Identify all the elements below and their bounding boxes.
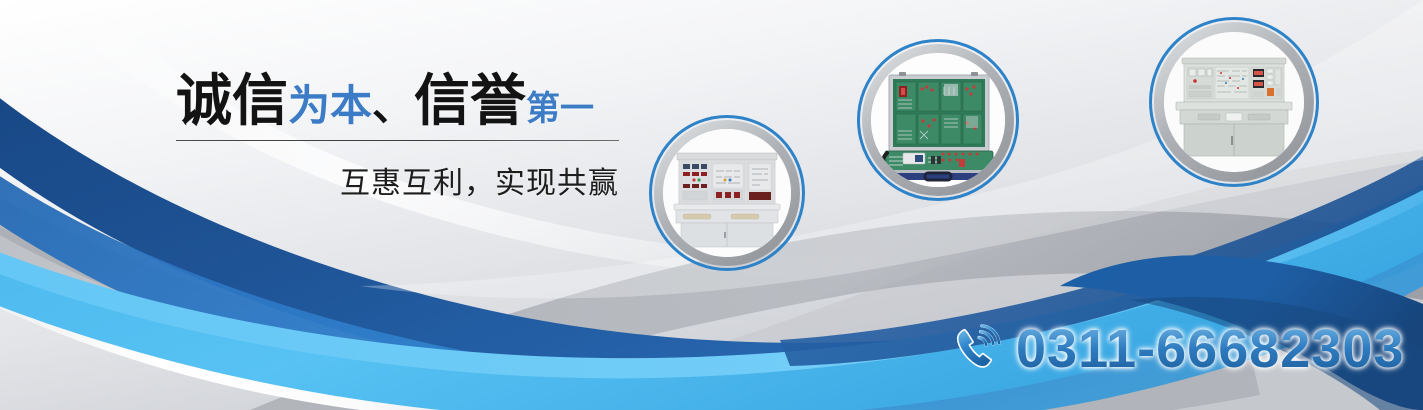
subtitle: 互惠互利，实现共赢 [176, 158, 619, 202]
headline-part-2-blue: 为本 [288, 82, 372, 129]
page-title: 诚信为本、信誉第一 [176, 72, 636, 131]
product-photo-lab-case [871, 53, 1005, 187]
product-photo-workbench [663, 129, 791, 257]
promo-banner: 诚信为本、信誉第一 互惠互利，实现共赢 [0, 0, 1423, 410]
product-photo-control-bench [1164, 32, 1304, 172]
lab-case-illustration [871, 53, 1005, 187]
headline-divider [176, 140, 619, 141]
control-bench-illustration [1164, 32, 1304, 172]
headline-part-4-blue: 第一 [526, 90, 594, 128]
headline-part-3: 信誉 [414, 69, 526, 132]
product-circle-electrical-training-workbench[interactable] [649, 115, 805, 271]
product-circle-portable-electronics-lab-case[interactable] [857, 39, 1019, 201]
phone-call-icon [950, 323, 1002, 375]
headline-block: 诚信为本、信誉第一 [176, 72, 636, 131]
contact-phone-block[interactable]: 0311-66682303 [950, 322, 1404, 376]
headline-separator: 、 [372, 82, 414, 129]
workbench-illustration [663, 129, 791, 257]
headline-part-1: 诚信 [176, 69, 288, 132]
product-circle-electrical-control-test-bench[interactable] [1149, 17, 1319, 187]
phone-number[interactable]: 0311-66682303 [1016, 322, 1404, 376]
